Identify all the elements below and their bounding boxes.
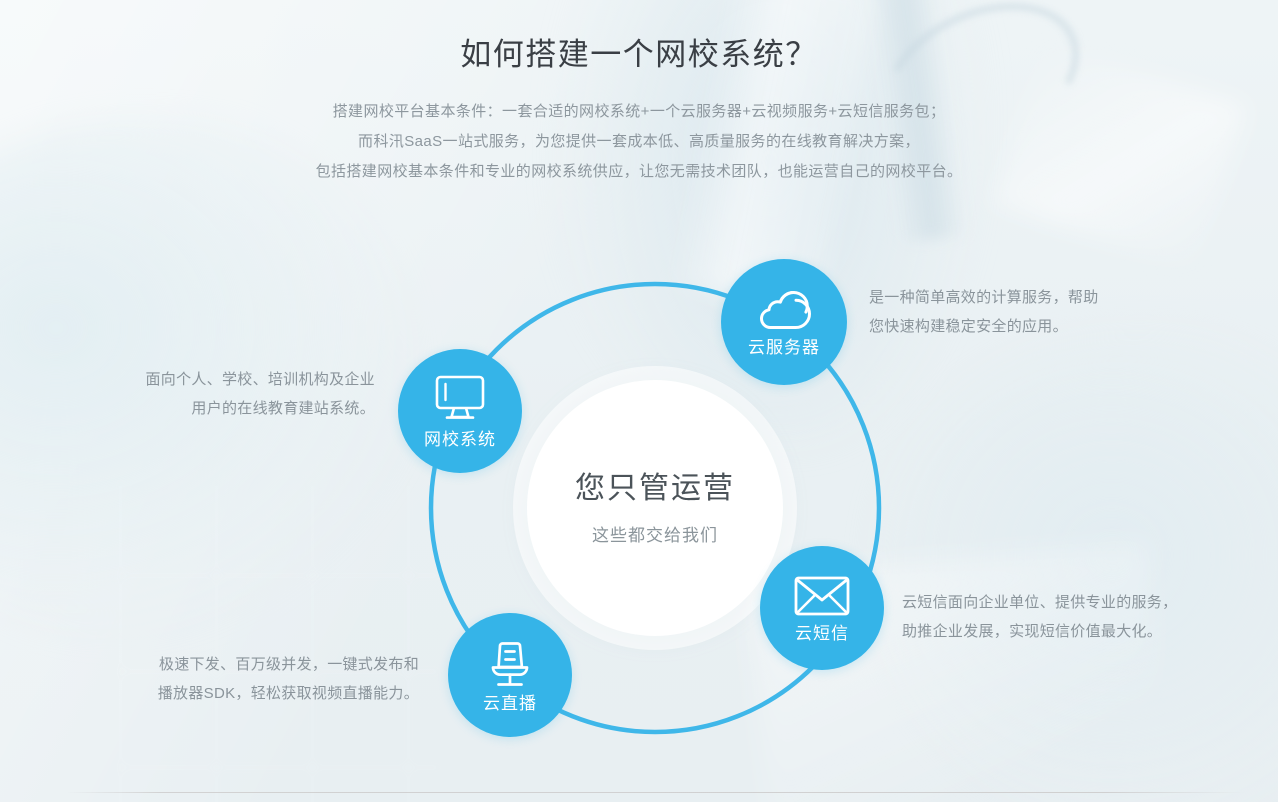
node-label-yun-zhibo: 云直播: [483, 695, 537, 712]
caption-line: 助推企业发展，实现短信价值最大化。: [902, 617, 1192, 646]
caption-line: 云短信面向企业单位、提供专业的服务，: [902, 588, 1192, 617]
caption-yun-fuwuqi: 是一种简单高效的计算服务，帮助 您快速构建稳定安全的应用。: [869, 283, 1139, 341]
caption-line: 用户的在线教育建站系统。: [133, 394, 375, 423]
monitor-icon: [432, 374, 488, 422]
center-hub-text: 您只管运营 这些都交给我们: [527, 380, 783, 636]
caption-line: 播放器SDK，轻松获取视频直播能力。: [141, 679, 419, 708]
caption-line: 极速下发、百万级并发，一键式发布和: [141, 650, 419, 679]
caption-line: 面向个人、学校、培训机构及企业: [133, 365, 375, 394]
caption-yun-zhibo: 极速下发、百万级并发，一键式发布和 播放器SDK，轻松获取视频直播能力。: [141, 650, 419, 708]
service-cycle-diagram: 您只管运营 这些都交给我们 网校系统: [0, 0, 1278, 802]
node-yun-zhibo[interactable]: 云直播: [448, 613, 572, 737]
cloud-icon: [752, 288, 816, 333]
node-label-wangxiao-xitong: 网校系统: [424, 431, 496, 448]
node-wangxiao-xitong[interactable]: 网校系统: [398, 349, 522, 473]
caption-yun-duanxin: 云短信面向企业单位、提供专业的服务， 助推企业发展，实现短信价值最大化。: [902, 588, 1192, 646]
node-label-yun-duanxin: 云短信: [795, 625, 849, 642]
section-divider: [66, 792, 1245, 793]
caption-line: 是一种简单高效的计算服务，帮助: [869, 283, 1139, 312]
page-background: 如何搭建一个网校系统？ 搭建网校平台基本条件：一套合适的网校系统+一个云服务器+…: [0, 0, 1278, 802]
envelope-icon: [793, 575, 851, 617]
caption-line: 您快速构建稳定安全的应用。: [869, 312, 1139, 341]
node-yun-fuwuqi[interactable]: 云服务器: [721, 259, 847, 385]
center-hub-title: 您只管运营: [575, 470, 735, 508]
caption-wangxiao-xitong: 面向个人、学校、培训机构及企业 用户的在线教育建站系统。: [133, 365, 375, 423]
center-hub-subtitle: 这些都交给我们: [592, 521, 718, 546]
broadcast-microphone-icon: [484, 639, 536, 689]
node-label-yun-fuwuqi: 云服务器: [748, 339, 820, 356]
node-yun-duanxin[interactable]: 云短信: [760, 546, 884, 670]
